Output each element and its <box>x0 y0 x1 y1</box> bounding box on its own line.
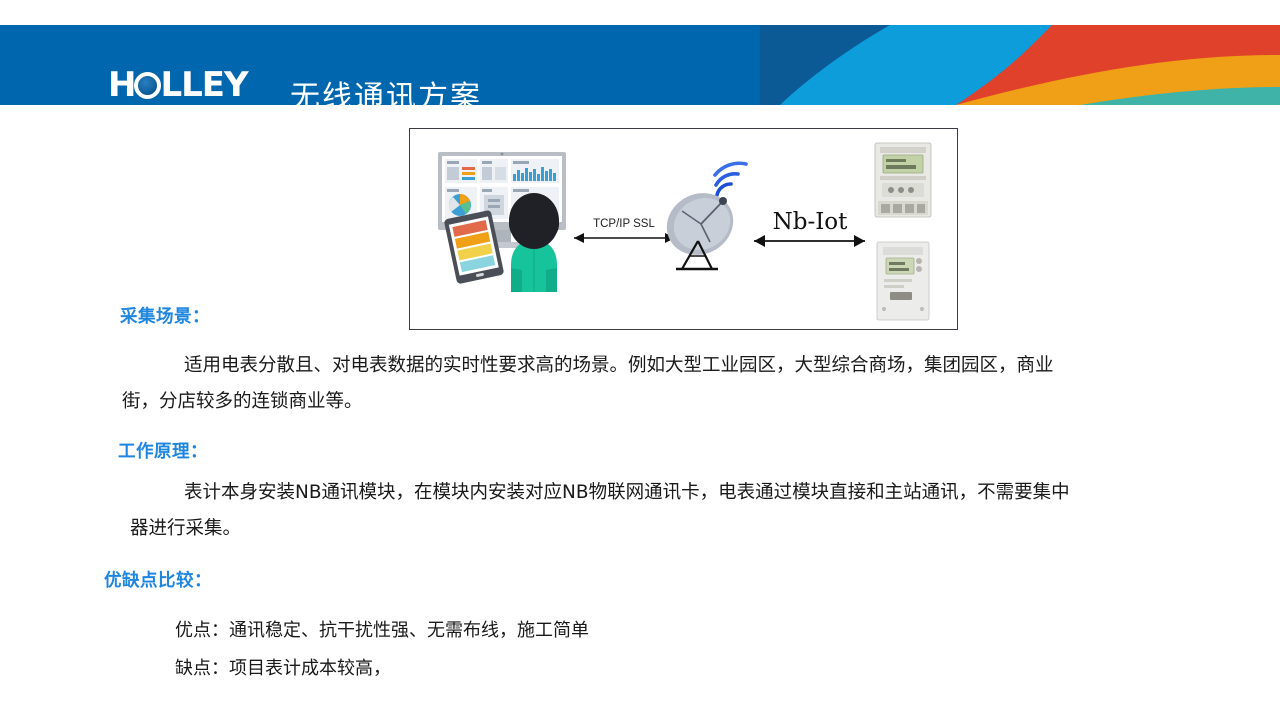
paragraph-line-text: 街，分店较多的连锁商业等。 <box>122 391 363 412</box>
heading-pros-cons-comparison: 优缺点比较： <box>104 567 212 592</box>
electricity-meter-bottom <box>877 242 929 320</box>
paragraph-collection-scene: 适用电表分散且、对电表数据的实时性要求高的场景。例如大型工业园区，大型综合商场，… <box>150 348 1220 420</box>
paragraph-line: 适用电表分散且、对电表数据的实时性要求高的场景。例如大型工业园区，大型综合商场，… <box>150 348 1220 384</box>
heading-collection-scene: 采集场景： <box>120 303 210 328</box>
link-label-tcpip: TCP/IP SSL <box>593 218 655 230</box>
holley-logo: HLLEY T E C H 华 立 科 技 <box>108 68 258 105</box>
cons-line: 缺点：项目表计成本较高， <box>175 654 391 680</box>
heading-working-principle: 工作原理： <box>118 438 208 463</box>
pros-line: 优点：通讯稳定、抗干扰性强、无需布线，施工简单 <box>175 616 589 642</box>
link-tcpip-ssl: TCP/IP SSL <box>574 218 675 243</box>
logo-letters-lley: LLEY <box>160 65 247 105</box>
link-nbiot: Nb-Iot <box>754 209 865 247</box>
header-decorative-swoosh <box>760 25 1280 105</box>
satellite-dish-antenna <box>656 163 746 269</box>
logo-letter-h: H <box>108 65 135 105</box>
paragraph-working-principle: 表计本身安装NB通讯模块，在模块内安装对应NB物联网通讯卡，电表通过模块直接和主… <box>150 475 1220 547</box>
paragraph-line-text: 适用电表分散且、对电表数据的实时性要求高的场景。例如大型工业园区，大型综合商场，… <box>184 355 1054 376</box>
logo-wordmark: HLLEY <box>108 68 258 102</box>
page-header: HLLEY T E C H 华 立 科 技 无线通讯方案 <box>0 25 1280 105</box>
paragraph-line-text: 表计本身安装NB通讯模块，在模块内安装对应NB物联网通讯卡，电表通过模块直接和主… <box>184 482 1070 503</box>
electricity-meter-top <box>875 143 931 217</box>
logo-letter-o-ring <box>134 72 161 99</box>
paragraph-line: 表计本身安装NB通讯模块，在模块内安装对应NB物联网通讯卡，电表通过模块直接和主… <box>150 475 1220 511</box>
page-title: 无线通讯方案 <box>290 72 482 105</box>
paragraph-line: 器进行采集。 <box>130 511 1220 547</box>
paragraph-line: 街，分店较多的连锁商业等。 <box>122 384 1220 420</box>
architecture-diagram: TCP/IP SSL Nb-I <box>409 128 958 330</box>
paragraph-line-text: 器进行采集。 <box>130 518 241 539</box>
link-label-nbiot: Nb-Iot <box>773 209 849 235</box>
